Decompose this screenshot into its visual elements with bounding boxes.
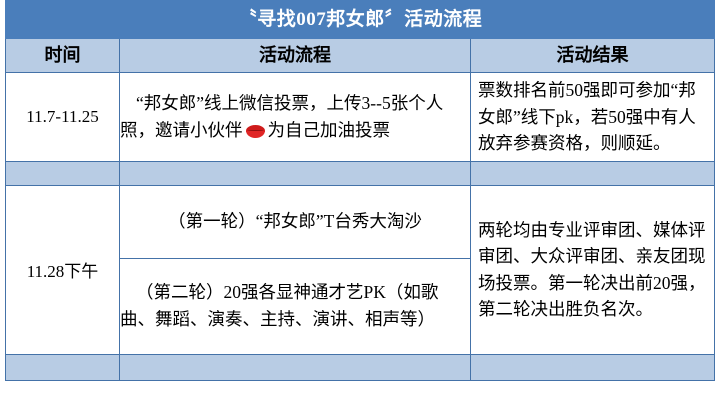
column-header-time-label: 时间 [6,39,119,72]
spacer-cell-time-bottom [6,354,120,380]
spacer-cell-time [6,161,120,185]
spacer-cell-flow-bottom [120,354,471,380]
cell-result-1: 票数排名前50强即可参加“邦女郎”线下pk，若50强中有人放弃参赛资格，则顺延。 [471,73,715,162]
lips-emoji-icon [246,125,265,138]
spacer-row [6,161,715,185]
spacer-row [6,354,715,380]
page-title: 〝寻找007邦女郎〞活动流程 [6,1,714,38]
cell-flow-2-round1: （第一轮）“邦女郎”T台秀大淘沙 [120,185,471,258]
activity-flow-table: 〝寻找007邦女郎〞活动流程 时间 活动流程 活动结果 11.7-11.25 “… [5,0,715,381]
spacer-cell-result-bottom [471,354,715,380]
spacer-cell-flow [120,161,471,185]
table-row: 11.28下午 （第一轮）“邦女郎”T台秀大淘沙 两轮均由专业评审团、媒体评审团… [6,185,715,258]
cell-flow-2-round2: （第二轮）20强各显神通才艺PK（如歌曲、舞蹈、演奏、主持、演讲、相声等） [120,258,471,354]
column-header-result-label: 活动结果 [471,39,714,72]
spreadsheet-canvas: 〝寻找007邦女郎〞活动流程 时间 活动流程 活动结果 11.7-11.25 “… [0,0,725,400]
column-header-time: 时间 [6,39,120,73]
column-header-flow: 活动流程 [120,39,471,73]
cell-flow-1: “邦女郎”线上微信投票，上传3--5张个人照，邀请小伙伴为自己加油投票 [120,73,471,162]
cell-flow-1-part2: 为自己加油投票 [268,120,391,140]
cell-time-2: 11.28下午 [6,185,120,354]
cell-time-1: 11.7-11.25 [6,73,120,162]
column-header-result: 活动结果 [471,39,715,73]
cell-result-2: 两轮均由专业评审团、媒体评审团、大众评审团、亲友团现场投票。第一轮决出前20强，… [471,185,715,354]
column-header-flow-label: 活动流程 [120,39,470,72]
spacer-cell-result [471,161,715,185]
table-title-cell: 〝寻找007邦女郎〞活动流程 [6,1,715,39]
table-title-row: 〝寻找007邦女郎〞活动流程 [6,1,715,39]
table-row: 11.7-11.25 “邦女郎”线上微信投票，上传3--5张个人照，邀请小伙伴为… [6,73,715,162]
table-header-row: 时间 活动流程 活动结果 [6,39,715,73]
